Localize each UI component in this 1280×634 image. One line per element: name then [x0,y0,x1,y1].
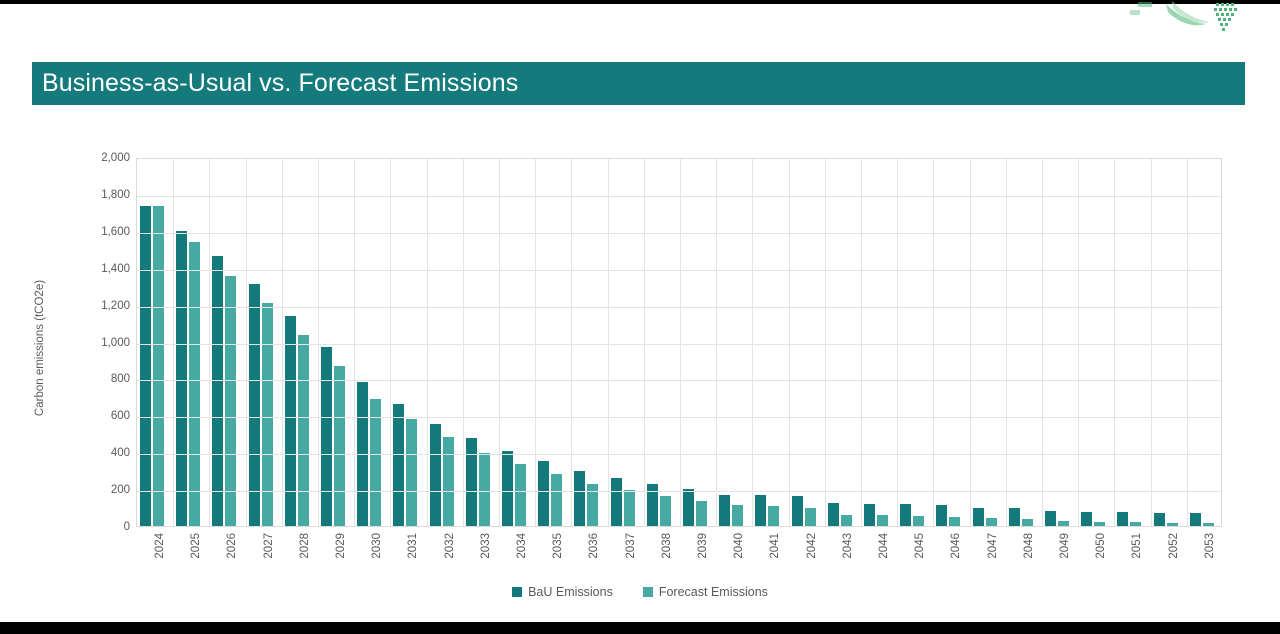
x-axis-tick-label-text: 2040 [733,533,745,559]
bar-group [535,159,571,526]
horizontal-gridline [137,233,1221,234]
vertical-gridline [1006,159,1007,526]
bar-forecast-emissions[interactable] [1130,522,1141,526]
x-axis-tick-labels: 2024202520262027202820292030203120322033… [136,529,1222,589]
bar-forecast-emissions[interactable] [406,419,417,526]
bar-bau-emissions[interactable] [755,495,766,526]
bar-group [1151,159,1187,526]
x-axis-tick-label: 2038 [643,529,679,585]
vertical-gridline [427,159,428,526]
vertical-gridline [933,159,934,526]
bar-group [789,159,825,526]
bar-group [825,159,861,526]
x-axis-tick-label-text: 2047 [987,533,999,559]
vertical-gridline [716,159,717,526]
bar-group [1114,159,1150,526]
vertical-gridline [499,159,500,526]
y-axis-tick-label: 800 [111,373,130,385]
vertical-gridline [463,159,464,526]
bar-group [173,159,209,526]
vertical-gridline [318,159,319,526]
y-axis-tick-label: 0 [124,521,130,533]
horizontal-gridline [137,380,1221,381]
slide-bottom-border [0,622,1280,634]
bar-group [571,159,607,526]
bar-group [137,159,173,526]
bar-group [318,159,354,526]
x-axis-tick-label-text: 2039 [697,533,709,559]
bar-group [644,159,680,526]
bar-group [209,159,245,526]
y-axis-tick-label: 1,200 [101,300,130,312]
bar-forecast-emissions[interactable] [660,496,671,526]
x-axis-tick-label: 2029 [317,529,353,585]
x-axis-tick-label: 2037 [607,529,643,585]
bar-group [354,159,390,526]
bar-bau-emissions[interactable] [176,231,187,526]
x-axis-tick-label-text: 2025 [190,533,202,559]
vertical-gridline [1187,159,1188,526]
x-axis-tick-label-text: 2048 [1023,533,1035,559]
x-axis-tick-label: 2030 [353,529,389,585]
x-axis-tick-label-text: 2029 [335,533,347,559]
x-axis-tick-label: 2051 [1113,529,1149,585]
bar-bau-emissions[interactable] [574,471,585,526]
bar-bau-emissions[interactable] [611,478,622,526]
bar-bau-emissions[interactable] [1154,513,1165,526]
x-axis-tick-label-text: 2037 [625,533,637,559]
bar-forecast-emissions[interactable] [1094,522,1105,526]
bar-group [933,159,969,526]
bar-bau-emissions[interactable] [285,316,296,526]
vertical-gridline [825,159,826,526]
x-axis-tick-label-text: 2052 [1168,533,1180,559]
vertical-gridline [1114,159,1115,526]
x-axis-tick-label: 2041 [751,529,787,585]
bar-group [1078,159,1114,526]
y-axis-tick-label: 1,000 [101,337,130,349]
x-axis-tick-label-text: 2049 [1059,533,1071,559]
bar-forecast-emissions[interactable] [551,474,562,526]
bar-bau-emissions[interactable] [864,504,875,527]
bar-forecast-emissions[interactable] [986,518,997,526]
bar-bau-emissions[interactable] [502,451,513,526]
bar-bau-emissions[interactable] [466,438,477,526]
bar-bau-emissions[interactable] [792,496,803,526]
x-axis-tick-label: 2033 [462,529,498,585]
vertical-gridline [789,159,790,526]
legend-item[interactable]: Forecast Emissions [643,585,768,599]
slide-top-border [0,0,1280,4]
x-axis-tick-label: 2039 [679,529,715,585]
bar-bau-emissions[interactable] [430,424,441,526]
y-axis-tick-label: 1,400 [101,263,130,275]
page-title: Business-as-Usual vs. Forecast Emissions [32,69,518,98]
legend-swatch-icon [512,587,522,597]
bar-bau-emissions[interactable] [212,256,223,526]
bar-forecast-emissions[interactable] [1167,523,1178,526]
bar-forecast-emissions[interactable] [298,335,309,526]
x-axis-tick-label: 2031 [389,529,425,585]
y-axis-tick-label: 600 [111,410,130,422]
bar-bau-emissions[interactable] [249,284,260,526]
bar-group [463,159,499,526]
bar-bau-emissions[interactable] [1117,512,1128,526]
vertical-gridline [390,159,391,526]
bar-forecast-emissions[interactable] [1022,519,1033,526]
bar-bau-emissions[interactable] [1081,512,1092,526]
x-axis-tick-label: 2053 [1186,529,1222,585]
x-axis-tick-label-text: 2031 [407,533,419,559]
x-axis-tick-label-text: 2041 [769,533,781,559]
vertical-gridline [680,159,681,526]
horizontal-gridline [137,491,1221,492]
x-axis-tick-label-text: 2044 [878,533,890,559]
x-axis-tick-label-text: 2051 [1131,533,1143,559]
bar-group [1042,159,1078,526]
bar-forecast-emissions[interactable] [515,464,526,526]
bar-bau-emissions[interactable] [719,495,730,526]
x-axis-tick-label-text: 2033 [480,533,492,559]
vertical-gridline [1078,159,1079,526]
bar-forecast-emissions[interactable] [624,490,635,526]
bar-group [970,159,1006,526]
x-axis-tick-label: 2052 [1150,529,1186,585]
emissions-bar-chart: Carbon emissions (tCO2e) 2,0001,8001,600… [0,120,1280,610]
bar-bau-emissions[interactable] [900,504,911,526]
vertical-gridline [970,159,971,526]
vertical-gridline [1151,159,1152,526]
bar-forecast-emissions[interactable] [841,515,852,526]
x-axis-tick-label-text: 2032 [444,533,456,559]
horizontal-gridline [137,417,1221,418]
x-axis-tick-label: 2046 [932,529,968,585]
bar-bau-emissions[interactable] [321,347,332,526]
x-axis-tick-label-text: 2042 [806,533,818,559]
bar-group [246,159,282,526]
x-axis-tick-label-text: 2050 [1095,533,1107,559]
bar-bau-emissions[interactable] [393,404,404,526]
vertical-gridline [354,159,355,526]
bar-forecast-emissions[interactable] [732,505,743,526]
bar-group [282,159,318,526]
bar-forecast-emissions[interactable] [805,508,816,526]
bar-forecast-emissions[interactable] [913,516,924,526]
bar-forecast-emissions[interactable] [587,484,598,526]
bar-group [716,159,752,526]
bar-bau-emissions[interactable] [1045,511,1056,526]
vertical-gridline [608,159,609,526]
legend-label: Forecast Emissions [659,585,768,599]
x-axis-tick-label: 2040 [715,529,751,585]
vertical-gridline [209,159,210,526]
horizontal-gridline [137,196,1221,197]
bar-forecast-emissions[interactable] [1058,521,1069,526]
bar-bau-emissions[interactable] [1009,508,1020,526]
bar-bau-emissions[interactable] [936,505,947,526]
x-axis-tick-label-text: 2026 [226,533,238,559]
vertical-gridline [861,159,862,526]
x-axis-tick-label: 2025 [172,529,208,585]
bar-group [427,159,463,526]
x-axis-tick-label-text: 2046 [950,533,962,559]
vertical-gridline [1042,159,1043,526]
y-axis-tick-label: 2,000 [101,152,130,164]
vertical-gridline [535,159,536,526]
y-axis-tick-label: 1,600 [101,226,130,238]
x-axis-tick-label: 2048 [1005,529,1041,585]
bar-forecast-emissions[interactable] [153,206,164,526]
bar-group [1006,159,1042,526]
bar-bau-emissions[interactable] [828,503,839,526]
legend-item[interactable]: BaU Emissions [512,585,613,599]
bar-forecast-emissions[interactable] [768,506,779,526]
legend-label: BaU Emissions [528,585,613,599]
bar-forecast-emissions[interactable] [225,276,236,526]
slide-canvas: Business-as-Usual vs. Forecast Emissions… [0,0,1280,634]
x-axis-tick-label-text: 2030 [371,533,383,559]
x-axis-tick-label: 2045 [896,529,932,585]
x-axis-tick-label-text: 2043 [842,533,854,559]
bar-forecast-emissions[interactable] [1203,523,1214,526]
y-axis-tick-label: 1,800 [101,189,130,201]
vertical-gridline [246,159,247,526]
x-axis-tick-label: 2034 [498,529,534,585]
bar-bau-emissions[interactable] [1190,513,1201,526]
vertical-gridline [282,159,283,526]
x-axis-tick-label-text: 2038 [661,533,673,559]
legend-swatch-icon [643,587,653,597]
vertical-gridline [897,159,898,526]
y-axis-tick-label: 200 [111,484,130,496]
y-axis-tick-label: 400 [111,447,130,459]
bar-group [752,159,788,526]
bar-forecast-emissions[interactable] [189,242,200,526]
slide-title-band: Business-as-Usual vs. Forecast Emissions [32,62,1245,105]
horizontal-gridline [137,454,1221,455]
x-axis-tick-label: 2032 [426,529,462,585]
bar-forecast-emissions[interactable] [479,453,490,526]
x-axis-tick-label: 2036 [570,529,606,585]
x-axis-tick-label: 2024 [136,529,172,585]
bar-bau-emissions[interactable] [683,489,694,526]
bar-group [1187,159,1222,526]
bar-group [861,159,897,526]
x-axis-tick-label-text: 2035 [552,533,564,559]
bar-forecast-emissions[interactable] [877,515,888,526]
plot-area [136,158,1222,527]
chart-legend: BaU EmissionsForecast Emissions [0,585,1280,599]
x-axis-tick-label-text: 2028 [299,533,311,559]
vertical-gridline [752,159,753,526]
globe-swoosh-logo-icon [1130,0,1250,40]
x-axis-tick-label: 2027 [245,529,281,585]
x-axis-tick-label: 2043 [824,529,860,585]
bar-forecast-emissions[interactable] [262,303,273,526]
x-axis-tick-label-text: 2053 [1204,533,1216,559]
bar-bau-emissions[interactable] [140,206,151,526]
bar-forecast-emissions[interactable] [949,517,960,526]
x-axis-tick-label: 2042 [788,529,824,585]
bar-forecast-emissions[interactable] [334,366,345,526]
x-axis-tick-label: 2047 [969,529,1005,585]
x-axis-tick-label: 2028 [281,529,317,585]
x-axis-tick-label-text: 2045 [914,533,926,559]
horizontal-gridline [137,307,1221,308]
x-axis-tick-label-text: 2027 [263,533,275,559]
bar-group [499,159,535,526]
bar-group [390,159,426,526]
x-axis-tick-label: 2035 [534,529,570,585]
y-axis-tick-labels: 2,0001,8001,6001,4001,2001,0008006004002… [70,158,130,527]
horizontal-gridline [137,270,1221,271]
x-axis-tick-label-text: 2036 [588,533,600,559]
x-axis-tick-label: 2026 [208,529,244,585]
bar-group [608,159,644,526]
company-logo [1130,0,1250,40]
bar-bau-emissions[interactable] [538,461,549,526]
x-axis-tick-label-text: 2034 [516,533,528,559]
x-axis-tick-label-text: 2024 [154,533,166,559]
vertical-gridline [644,159,645,526]
bar-group [897,159,933,526]
y-axis-title: Carbon emissions (tCO2e) [34,248,46,448]
bar-bau-emissions[interactable] [973,508,984,526]
x-axis-tick-label: 2050 [1077,529,1113,585]
vertical-gridline [571,159,572,526]
x-axis-tick-label: 2049 [1041,529,1077,585]
bar-forecast-emissions[interactable] [696,501,707,526]
bar-forecast-emissions[interactable] [443,437,454,526]
bars-layer [137,159,1221,526]
vertical-gridline [173,159,174,526]
bar-group [680,159,716,526]
horizontal-gridline [137,344,1221,345]
x-axis-tick-label: 2044 [860,529,896,585]
